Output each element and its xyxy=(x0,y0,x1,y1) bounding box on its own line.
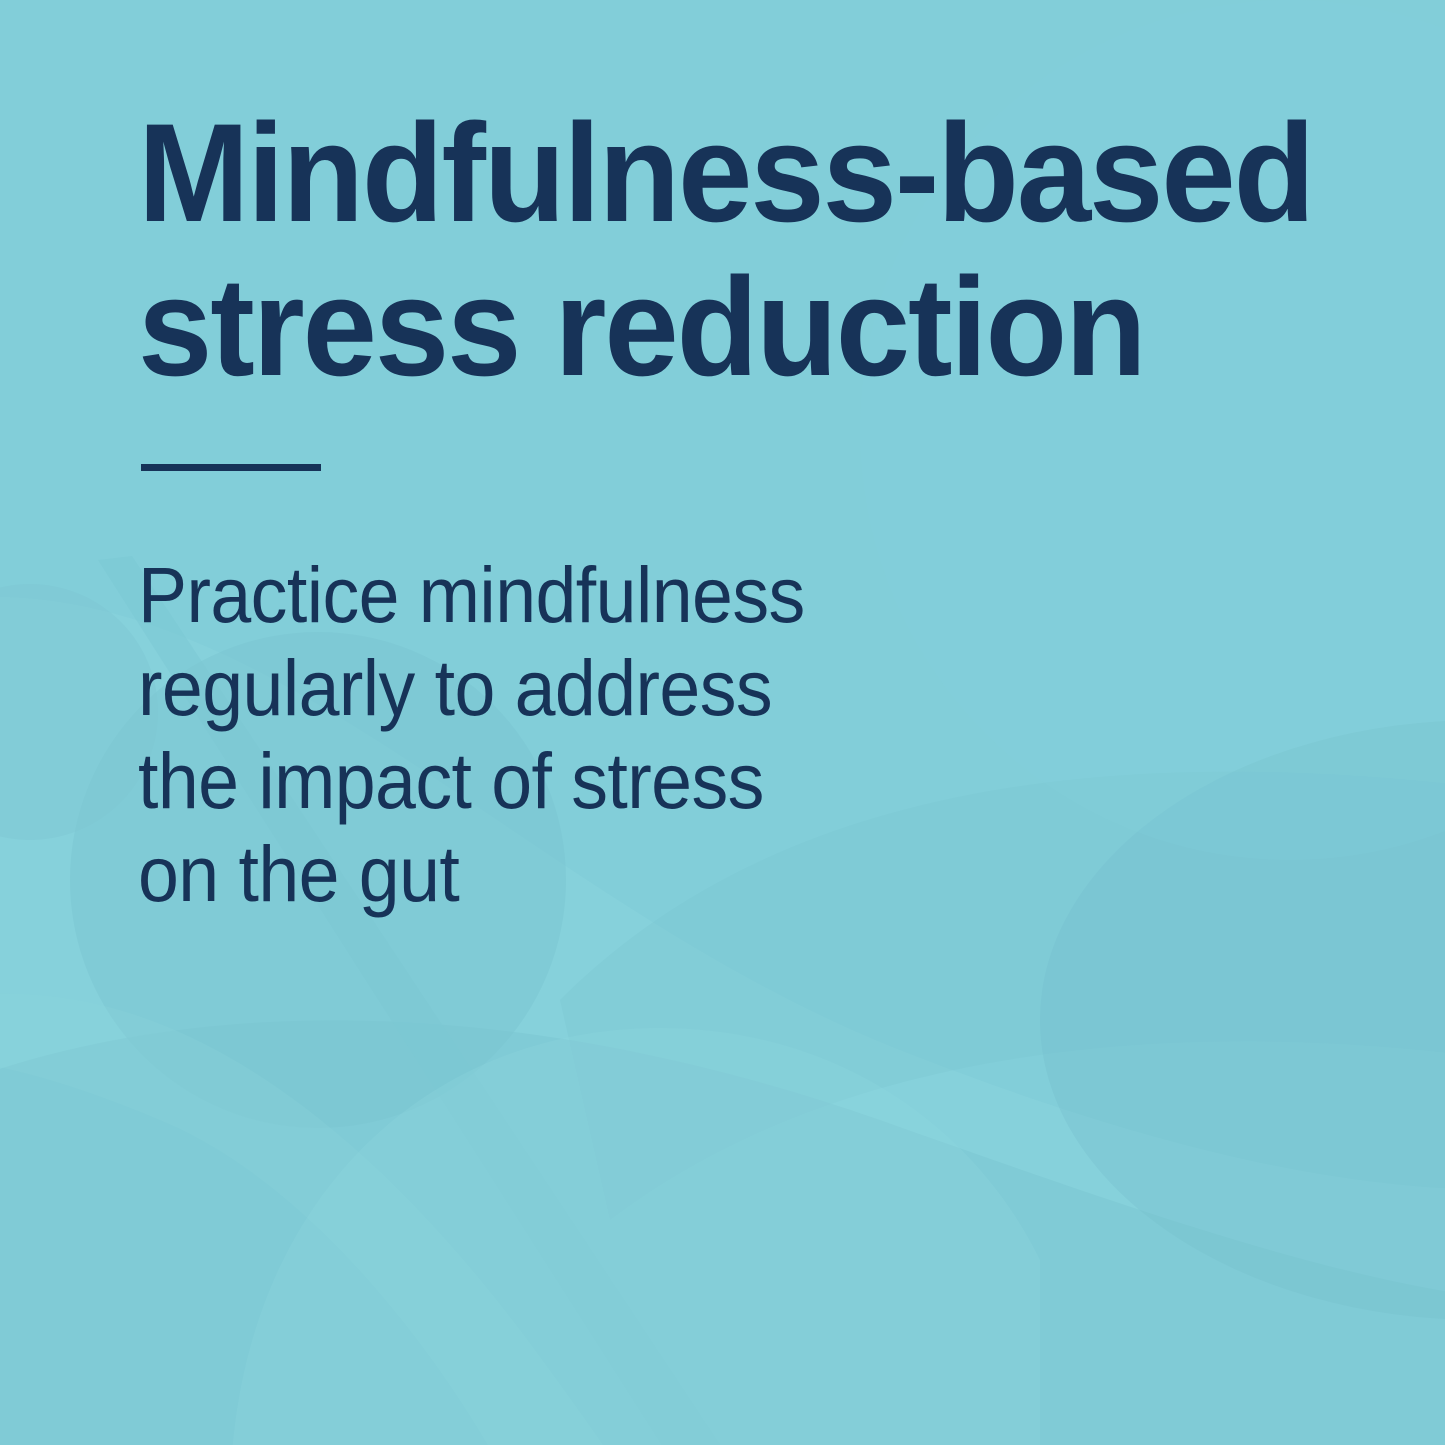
card-content: Mindfulness-based stress reduction Pract… xyxy=(0,0,1445,1445)
infographic-card: Mindfulness-based stress reduction Pract… xyxy=(0,0,1445,1445)
headline-line-2: stress reduction xyxy=(138,250,1284,404)
body-line-3: the impact of stress xyxy=(138,734,1068,827)
body-line-2: regularly to address xyxy=(138,641,1068,734)
title-divider-rule xyxy=(141,464,321,471)
body-line-4: on the gut xyxy=(138,827,1068,920)
headline-line-1: Mindfulness-based xyxy=(138,96,1284,250)
page-title: Mindfulness-based stress reduction xyxy=(138,96,1284,404)
body-line-1: Practice mindfulness xyxy=(138,548,1068,641)
body-text: Practice mindfulness regularly to addres… xyxy=(138,548,1068,920)
